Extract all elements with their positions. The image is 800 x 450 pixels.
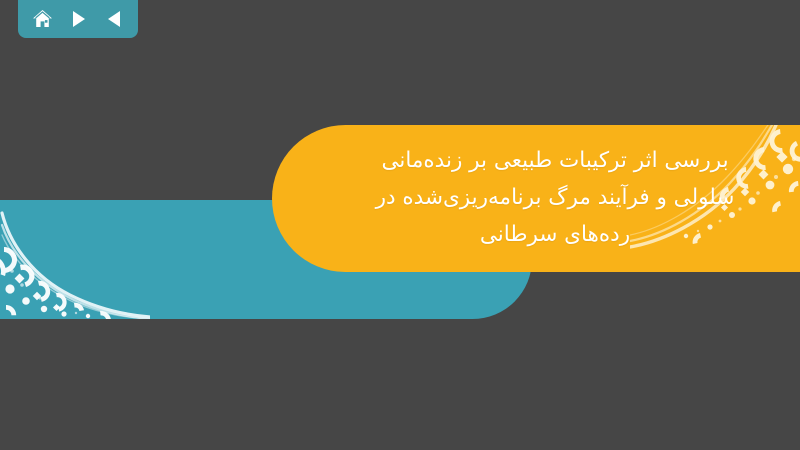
title-panel: بررسی اثر ترکیبات طبیعی بر زنده‌مانی سلو… [272,125,800,272]
back-icon [106,10,123,28]
forward-button[interactable] [65,6,91,32]
title-line-2: سلولی و فرآیند مرگ برنامه‌ریزی‌شده در [324,180,786,217]
arabesque-corner-ornament [0,201,150,319]
page-title: بررسی اثر ترکیبات طبیعی بر زنده‌مانی سلو… [272,143,800,254]
navigation-bar [18,0,138,38]
forward-icon [70,10,87,28]
title-line-1: بررسی اثر ترکیبات طبیعی بر زنده‌مانی [324,143,786,180]
home-icon [32,9,53,29]
back-button[interactable] [101,6,127,32]
home-button[interactable] [29,6,55,32]
title-line-3: رده‌های سرطانی [324,217,786,254]
slide-canvas: بررسی اثر ترکیبات طبیعی بر زنده‌مانی سلو… [0,0,800,450]
